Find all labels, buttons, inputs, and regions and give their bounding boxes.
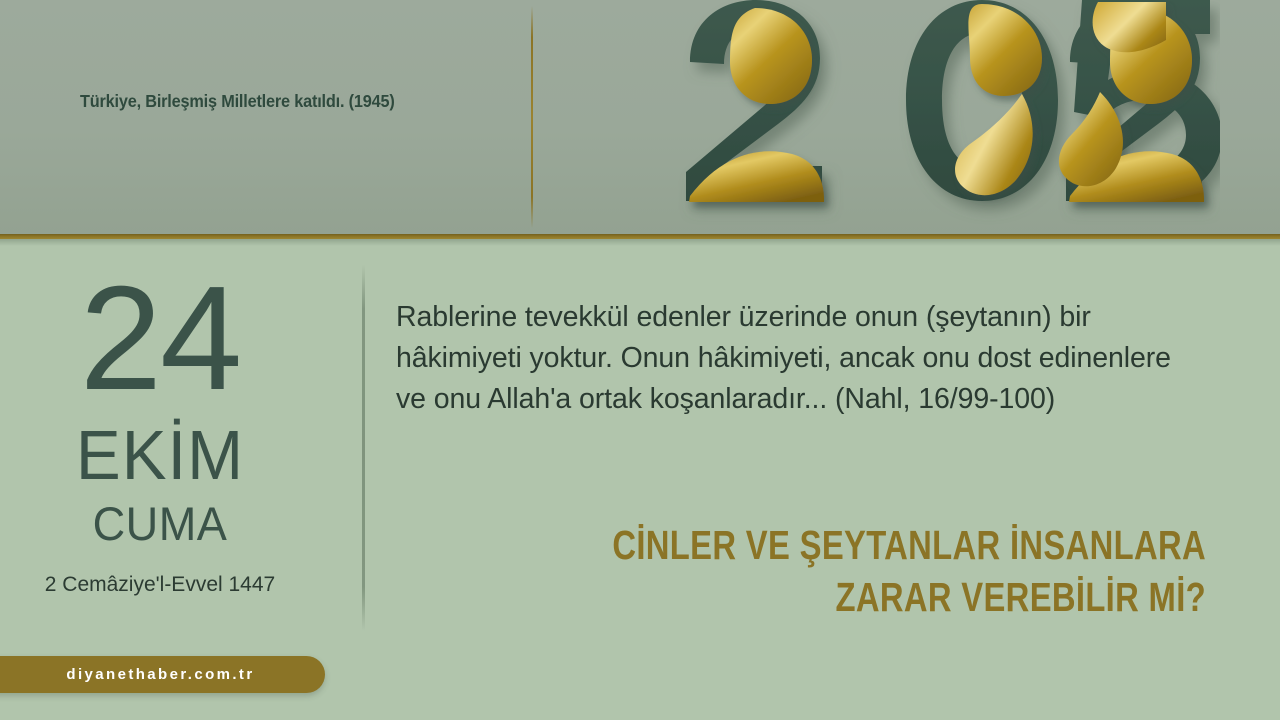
date-column: 24 EKİM CUMA 2 Cemâziye'l-Evvel 1447 [0,239,340,659]
weekday-name: CUMA [6,500,313,547]
brand-badge[interactable]: diyanethaber.com.tr [0,656,325,693]
month-name: EKİM [6,420,313,490]
body-section: 24 EKİM CUMA 2 Cemâziye'l-Evvel 1447 diy… [0,239,1280,720]
year-2025-artwork [660,0,1220,226]
hijri-date: 2 Cemâziye'l-Evvel 1447 [0,573,320,597]
brand-website-label: diyanethaber.com.tr [0,656,325,693]
history-note: Türkiye, Birleşmiş Milletlere katıldı. (… [80,91,395,112]
verse-text: Rablerine tevekkül edenler üzerinde onun… [396,297,1206,420]
day-number: 24 [0,265,320,413]
header-vertical-divider [531,6,533,228]
header-band: Türkiye, Birleşmiş Milletlere katıldı. (… [0,0,1280,234]
article-headline: CİNLER VE ŞEYTANLAR İNSANLARA ZARAR VERE… [585,519,1206,623]
daily-calendar-card: Türkiye, Birleşmiş Milletlere katıldı. (… [0,0,1280,720]
body-vertical-divider [362,265,365,631]
